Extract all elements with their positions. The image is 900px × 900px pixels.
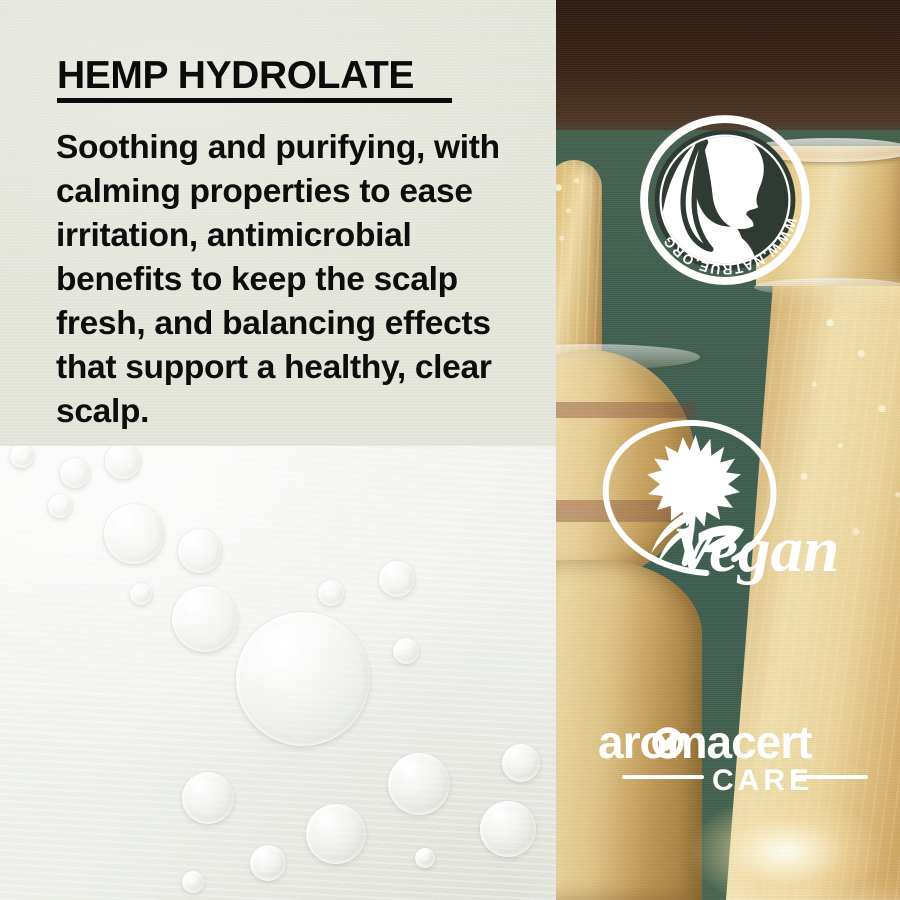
vegan-flower-icon: Vegan [590,414,886,584]
water-droplet [502,744,540,782]
water-droplet [130,583,152,605]
water-droplet [388,753,450,815]
water-droplet [60,458,90,488]
water-droplet [10,446,34,468]
water-droplet [236,612,370,746]
water-droplet [415,848,435,868]
left-column: HEMP HYDROLATE Soothing and purifying, w… [0,0,556,900]
water-droplet [480,801,536,857]
aromacert-label: aromacert [598,716,812,768]
water-droplet [178,529,222,573]
water-droplet [48,494,72,518]
water-droplet [172,586,238,652]
water-droplet [105,446,141,479]
aromacert-leaf-icon: aromacert CARE [598,716,888,794]
water-droplet-panel [0,446,556,900]
text-panel: HEMP HYDROLATE Soothing and purifying, w… [0,0,556,446]
water-droplet [182,772,234,824]
water-droplet [104,504,164,564]
water-droplet [306,804,366,864]
page-title: HEMP HYDROLATE [57,56,414,95]
body-description: Soothing and purifying, with calming pro… [56,126,526,434]
water-droplet [393,638,419,664]
water-droplet [182,871,204,893]
water-droplet [250,845,286,881]
natrue-seal-icon: WWW.NATRUE.ORG [637,112,813,288]
water-droplet [318,580,344,606]
product-infographic: HEMP HYDROLATE Soothing and purifying, w… [0,0,900,900]
title-underline [57,98,452,103]
product-photo: WWW.NATRUE.ORG [556,0,900,900]
vegan-label: Vegan [673,514,839,586]
water-droplet [379,561,415,597]
